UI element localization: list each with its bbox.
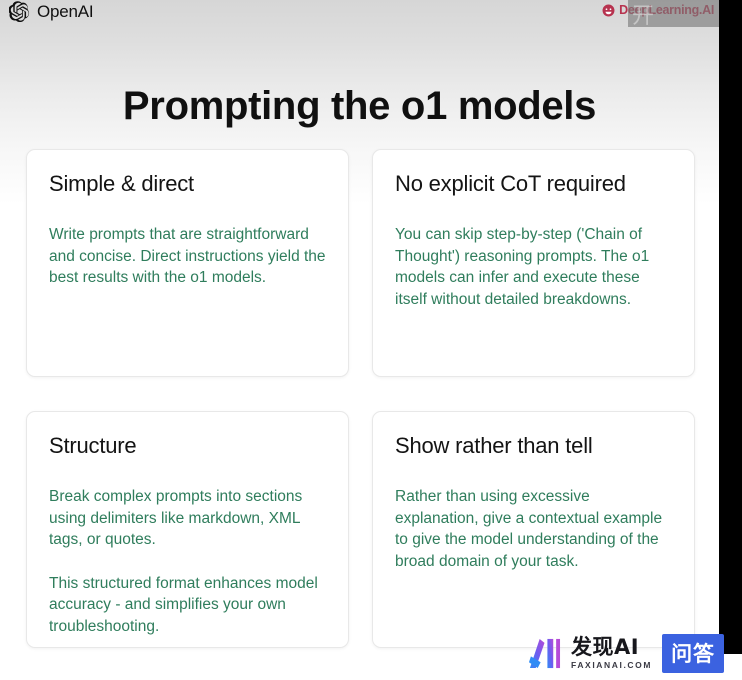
card-title: No explicit CoT required [395, 170, 672, 198]
deeplearning-ai-logo-icon [602, 4, 615, 17]
watermark-text: 发现AI FAXIANAI.COM [571, 637, 652, 670]
card-show-rather-than-tell: Show rather than tell Rather than using … [372, 411, 695, 648]
card-title: Simple & direct [49, 170, 326, 198]
card-paragraph: Write prompts that are straightforward a… [49, 224, 326, 289]
card-grid: Simple & direct Write prompts that are s… [26, 149, 695, 648]
openai-wordmark: OpenAI [37, 2, 93, 22]
card-paragraph: This structured format enhances model ac… [49, 573, 326, 638]
deeplearning-wordmark: DeepLearning.AI [619, 3, 714, 17]
watermark-domain-text: FAXIANAI.COM [571, 661, 652, 670]
openai-logo-icon [9, 1, 30, 22]
card-paragraph: Rather than using excessive explanation,… [395, 486, 672, 572]
watermark-qa-badge: 问答 [662, 634, 724, 673]
deeplearning-brand: DeepLearning.AI [602, 3, 714, 17]
card-no-explicit-cot: No explicit CoT required You can skip st… [372, 149, 695, 377]
right-letterbox-band [719, 0, 742, 654]
card-simple-direct: Simple & direct Write prompts that are s… [26, 149, 349, 377]
card-paragraph: You can skip step-by-step ('Chain of Tho… [395, 224, 672, 310]
top-brand-bar: OpenAI DeepLearning.AI 开 [0, 0, 742, 28]
watermark-main-text: 发现AI [571, 637, 652, 658]
slide-canvas: OpenAI DeepLearning.AI 开 Prompting the o… [0, 0, 742, 680]
card-paragraph: Break complex prompts into sections usin… [49, 486, 326, 551]
faxianai-watermark: 发现AI FAXIANAI.COM 问答 [528, 634, 724, 673]
card-title: Structure [49, 432, 326, 460]
openai-brand: OpenAI [9, 1, 93, 22]
card-structure: Structure Break complex prompts into sec… [26, 411, 349, 648]
card-title: Show rather than tell [395, 432, 672, 460]
faxianai-logo-icon [528, 637, 561, 670]
page-title: Prompting the o1 models [0, 82, 719, 130]
